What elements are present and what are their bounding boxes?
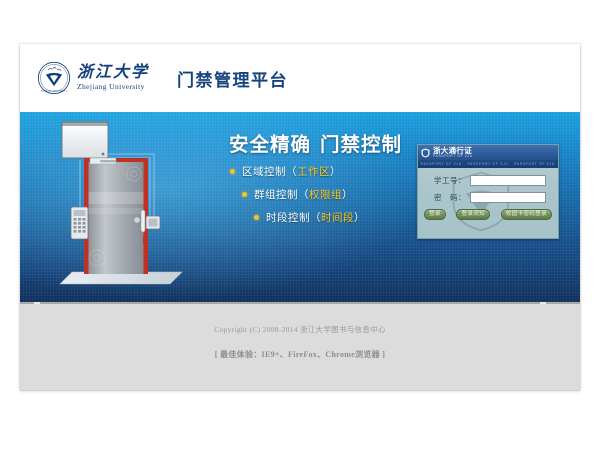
site-header: ZHEJIANG UNIVERSITY 浙江大学 Zhejiang Univer… <box>20 44 580 112</box>
footer-notch <box>540 302 546 304</box>
feature-tail: ） <box>342 187 353 202</box>
login-button[interactable]: 登录 <box>424 209 446 220</box>
zju-seal-icon: ZHEJIANG UNIVERSITY <box>37 61 71 95</box>
feature-accent: 权限组 <box>309 187 342 202</box>
password-label: 密 码： <box>424 192 466 203</box>
university-logo[interactable]: ZHEJIANG UNIVERSITY 浙江大学 Zhejiang Univer… <box>37 61 149 95</box>
browser-support-text: [ 最佳体验：IE9+、FireFox、Chrome浏览器 ] <box>20 349 580 360</box>
banner-headline: 安全精确门禁控制 <box>208 128 423 157</box>
login-form: 学工号： 密 码： 登录 登录须知 校园卡密码登录 <box>418 168 558 238</box>
footer-notch-row <box>20 302 580 304</box>
feature-accent: 时间段 <box>321 210 354 225</box>
page-title: 门禁管理平台 <box>177 66 288 91</box>
feature-item: 区域控制（ 工作区 ） <box>208 164 428 179</box>
banner-feature-list: 区域控制（ 工作区 ） 群组控制（ 权限组 ） 时段控制（ 时间段 ） <box>208 164 428 233</box>
feature-tail: ） <box>354 210 365 225</box>
logo-text-block: 浙江大学 Zhejiang University <box>77 65 149 92</box>
headline-right: 门禁控制 <box>320 134 402 156</box>
site-page: ZHEJIANG UNIVERSITY 浙江大学 Zhejiang Univer… <box>20 44 580 390</box>
shield-icon <box>421 148 430 158</box>
hero-banner: 安全精确门禁控制 区域控制（ 工作区 ） 群组控制（ 权限组 ） <box>20 112 580 302</box>
login-notice-button[interactable]: 登录须知 <box>456 209 490 220</box>
login-button-group: 登录 登录须知 校园卡密码登录 <box>424 209 552 220</box>
username-field-row: 学工号： <box>424 175 552 186</box>
copyright-text: Copyright (C) 2008-2014 浙江大学图书与信息中心 <box>20 324 580 335</box>
password-input[interactable] <box>470 192 546 203</box>
feature-item: 群组控制（ 权限组 ） <box>208 187 428 202</box>
login-panel-subtitle: PASSPORT OF ZJU <box>433 155 473 158</box>
ribbon-text: PASSPORT OF ZJU <box>467 162 508 166</box>
feature-label: 群组控制（ <box>254 187 309 202</box>
headline-left: 安全精确 <box>229 134 311 156</box>
footer-notch <box>34 302 40 304</box>
login-panel-titlebar: 浙大通行证 PASSPORT OF ZJU <box>418 145 558 160</box>
ribbon-text: PASSPORT OF ZJU <box>514 162 555 166</box>
feature-label: 时段控制（ <box>266 210 321 225</box>
login-panel: 浙大通行证 PASSPORT OF ZJU PASSPORT OF ZJU PA… <box>417 144 559 239</box>
logo-name-en: Zhejiang University <box>77 82 149 91</box>
password-field-row: 密 码： <box>424 192 552 203</box>
login-panel-title: 浙大通行证 <box>433 147 473 155</box>
login-panel-title-block: 浙大通行证 PASSPORT OF ZJU <box>433 147 473 159</box>
screenshot-root: ZHEJIANG UNIVERSITY 浙江大学 Zhejiang Univer… <box>0 0 600 450</box>
feature-accent: 工作区 <box>297 164 330 179</box>
logo-name-cn: 浙江大学 <box>77 65 149 82</box>
site-footer: Copyright (C) 2008-2014 浙江大学图书与信息中心 [ 最佳… <box>20 302 580 390</box>
campus-card-login-button[interactable]: 校园卡密码登录 <box>501 209 552 220</box>
feature-item: 时段控制（ 时间段 ） <box>208 210 428 225</box>
svg-text:ZHEJIANG UNIVERSITY: ZHEJIANG UNIVERSITY <box>41 90 68 93</box>
access-control-door-illustration <box>42 112 202 302</box>
bullet-dot-icon <box>254 215 259 220</box>
feature-tail: ） <box>330 164 341 179</box>
ribbon-text: PASSPORT OF ZJU <box>421 162 462 166</box>
login-panel-ribbon: PASSPORT OF ZJU PASSPORT OF ZJU PASSPORT… <box>418 160 558 168</box>
bullet-dot-icon <box>230 169 235 174</box>
feature-label: 区域控制（ <box>242 164 297 179</box>
username-input[interactable] <box>470 175 546 186</box>
username-label: 学工号： <box>424 175 466 186</box>
bullet-dot-icon <box>242 192 247 197</box>
